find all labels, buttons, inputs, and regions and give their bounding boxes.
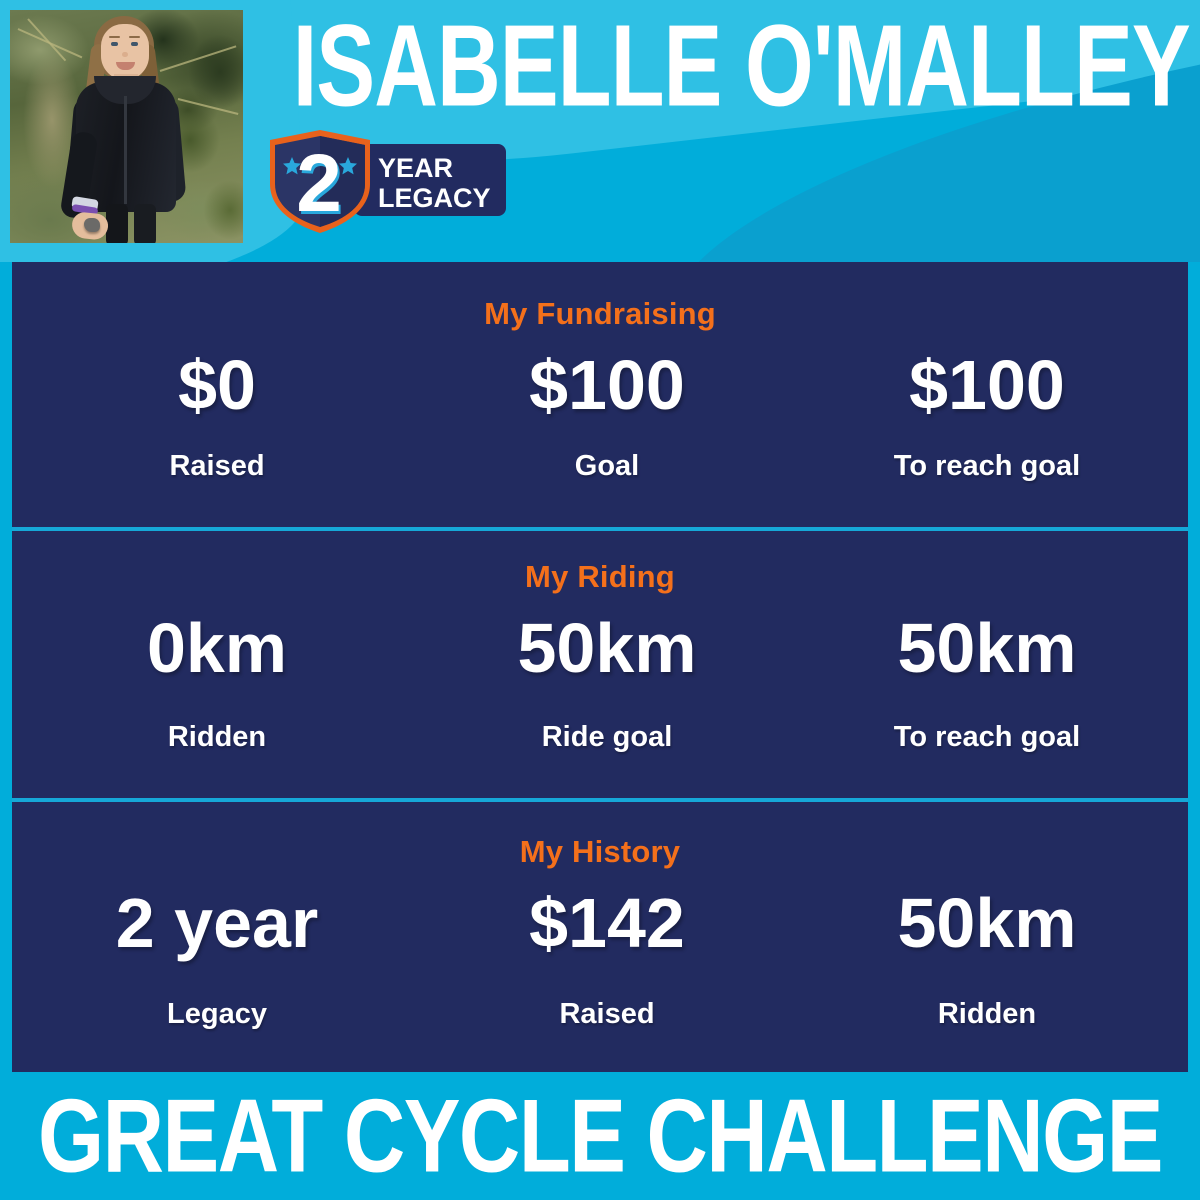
page-title: ISABELLE O'MALLEY — [293, 8, 1190, 124]
legacy-badge: 2 2 YEAR LEGACY — [262, 128, 512, 236]
stat-label: Legacy — [42, 1000, 392, 1029]
photo-girl-brow-left — [109, 36, 120, 38]
photo-girl-zipper — [124, 96, 127, 204]
legacy-badge-graphic: 2 2 YEAR LEGACY — [262, 128, 512, 236]
section-history: My History 2 year Legacy $142 Raised 50k… — [12, 802, 1188, 1072]
section-riding: My Riding 0km Ridden 50km Ride goal 50km… — [12, 531, 1188, 798]
stat-label: Ride goal — [432, 723, 782, 752]
section-title-history: My History — [12, 834, 1188, 870]
stat-label: Ridden — [42, 723, 392, 752]
photo-girl-eye-left — [111, 42, 118, 46]
section-title-fundraising: My Fundraising — [12, 296, 1188, 332]
badge-line1: YEAR — [378, 153, 453, 183]
badge-number: 2 — [296, 138, 342, 229]
badge-line2: LEGACY — [378, 183, 491, 213]
stat-value: 50km — [432, 613, 782, 683]
participant-photo — [10, 10, 243, 243]
photo-girl-leg-right — [134, 204, 156, 243]
stat-value: 50km — [812, 613, 1162, 683]
stat-label: Raised — [42, 452, 392, 481]
section-title-riding: My Riding — [12, 559, 1188, 595]
stat-value: 50km — [812, 888, 1162, 958]
stat-value: $100 — [432, 350, 782, 420]
stat-label: Raised — [432, 1000, 782, 1029]
participant-name-container: ISABELLE O'MALLEY — [258, 6, 1190, 126]
stat-value: 0km — [42, 613, 392, 683]
stat-label: Ridden — [812, 1000, 1162, 1029]
photo-girl-eye-right — [131, 42, 138, 46]
stat-value: $0 — [42, 350, 392, 420]
stats-card: My Fundraising $0 Raised $100 Goal $100 … — [12, 262, 1188, 1072]
stat-label: To reach goal — [812, 723, 1162, 752]
footer-brand-bar: GREAT CYCLE CHALLENGE — [0, 1072, 1200, 1200]
stat-value: 2 year — [42, 888, 392, 958]
header-banner: ISABELLE O'MALLEY 2 2 YEAR LEGACY — [0, 0, 1200, 262]
photo-girl-nose — [122, 52, 128, 57]
stat-value: $142 — [432, 888, 782, 958]
stat-label: To reach goal — [812, 452, 1162, 481]
photo-girl-brow-right — [129, 36, 140, 38]
stat-label: Goal — [432, 452, 782, 481]
section-fundraising: My Fundraising $0 Raised $100 Goal $100 … — [12, 262, 1188, 527]
brand-wordmark: GREAT CYCLE CHALLENGE — [38, 1084, 1162, 1188]
photo-girl-leg-left — [106, 204, 128, 243]
stat-value: $100 — [812, 350, 1162, 420]
photo-girl-held-object — [84, 218, 100, 232]
